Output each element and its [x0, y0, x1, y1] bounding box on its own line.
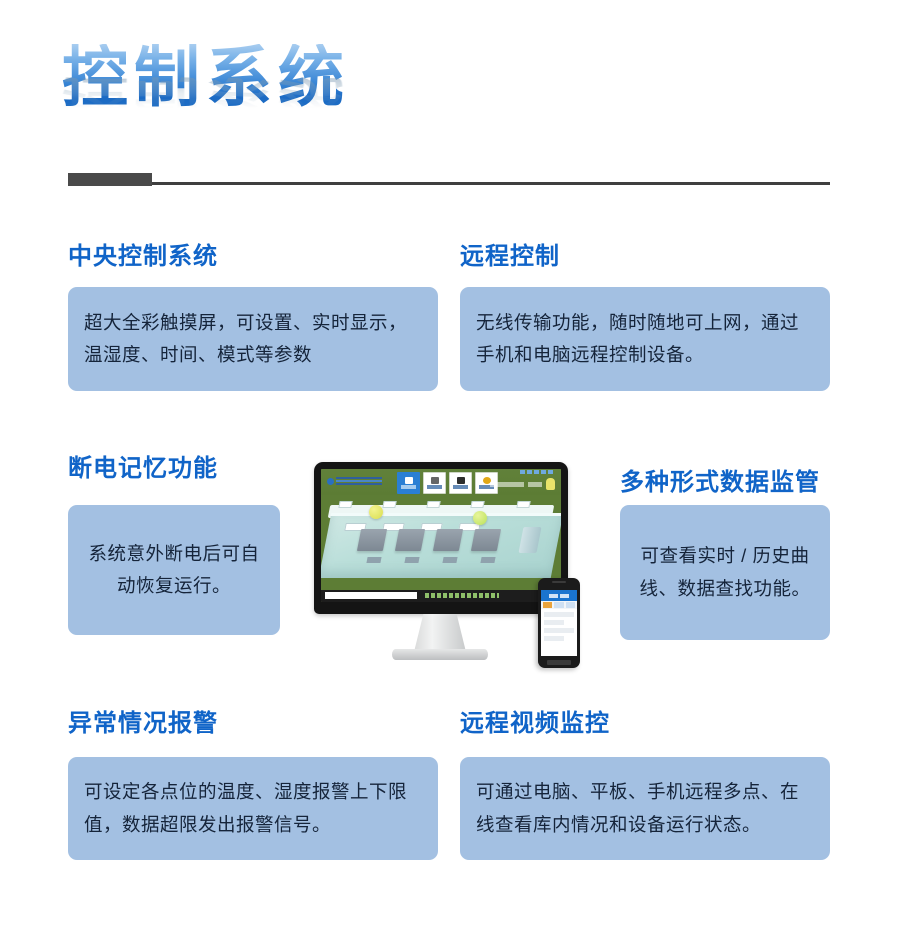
status-dot	[534, 470, 539, 474]
floor-duct	[442, 557, 457, 563]
app-status-bar	[321, 590, 561, 602]
equipment-unit	[433, 529, 463, 551]
page-title-block: 控制系统 控制系统	[62, 44, 482, 164]
desktop-monitor	[314, 462, 568, 614]
overview-icon	[405, 477, 413, 484]
status-dot	[548, 470, 553, 474]
roof-unit	[382, 501, 396, 508]
phone-list-row	[544, 612, 574, 617]
equipment-unit	[395, 529, 425, 551]
lamp-icon	[546, 478, 555, 490]
roof-unit	[338, 501, 352, 508]
status-field	[325, 592, 417, 599]
device-illustration	[310, 450, 590, 675]
datetime-text	[490, 482, 524, 487]
nav-tile-label	[427, 485, 442, 489]
logo-wordmark	[336, 477, 382, 485]
floor-duct	[366, 557, 381, 563]
divider-thin-segment	[152, 182, 830, 185]
status-dot	[527, 470, 532, 474]
nav-tile-overview[interactable]	[397, 472, 420, 494]
info-box-central-control: 超大全彩触摸屏，可设置、实时显示，温湿度、时间、模式等参数	[68, 287, 438, 391]
phone-home-button[interactable]	[547, 660, 571, 665]
sensor-marker-icon	[369, 505, 383, 519]
phone-tab-bar[interactable]	[541, 601, 577, 609]
info-text-abnormal-alarm: 可设定各点位的温度、湿度报警上下限值，数据超限发出报警信号。	[84, 776, 422, 841]
phone-list-row	[544, 620, 564, 625]
app-top-right-info	[490, 478, 555, 490]
page-title: 控制系统	[62, 44, 482, 110]
info-box-remote-control: 无线传输功能，随时随地可上网，通过手机和电脑远程控制设备。	[460, 287, 830, 391]
phone-header-label	[560, 594, 569, 598]
roof-unit	[516, 501, 530, 508]
phone-app-header	[541, 590, 577, 601]
phone-screen	[541, 590, 577, 656]
section-heading-power-failure-memory: 断电记忆功能	[68, 448, 218, 483]
facility-3d-view	[321, 499, 561, 585]
info-text-power-failure-memory: 系统意外断电后可自动恢复运行。	[86, 538, 262, 603]
section-heading-remote-video-monitoring: 远程视频监控	[460, 703, 610, 738]
smartphone	[538, 578, 580, 668]
info-box-abnormal-alarm: 可设定各点位的温度、湿度报警上下限值，数据超限发出报警信号。	[68, 757, 438, 860]
data-icon	[431, 477, 439, 484]
nav-tile-label	[401, 485, 416, 489]
equipment-unit	[471, 529, 501, 551]
section-heading-central-control: 中央控制系统	[68, 236, 218, 271]
roof-unit	[470, 501, 484, 508]
info-box-remote-video-monitoring: 可通过电脑、平板、手机远程多点、在线查看库内情况和设备运行状态。	[460, 757, 830, 860]
phone-header-label	[549, 594, 558, 598]
phone-list-row	[544, 628, 574, 633]
sensor-marker-icon	[473, 511, 487, 525]
monitor-stand-neck	[414, 614, 466, 652]
phone-earpiece	[552, 581, 566, 583]
info-text-multi-form-data-supervision: 可查看实时 / 历史曲线、数据查找功能。	[638, 540, 812, 605]
phone-tab-active[interactable]	[543, 602, 552, 608]
equipment-unit	[357, 529, 387, 551]
roof-unit	[426, 501, 440, 508]
monitor-screen	[321, 469, 561, 602]
phone-tab[interactable]	[566, 602, 575, 608]
app-logo	[327, 477, 382, 485]
info-text-remote-video-monitoring: 可通过电脑、平板、手机远程多点、在线查看库内情况和设备运行状态。	[476, 776, 814, 841]
nav-tile-device[interactable]	[449, 472, 472, 494]
status-dot	[541, 470, 546, 474]
logo-mark-icon	[327, 478, 334, 485]
info-text-remote-control: 无线传输功能，随时随地可上网，通过手机和电脑远程控制设备。	[476, 307, 814, 372]
app-nav-tiles[interactable]	[397, 472, 498, 494]
section-heading-remote-control: 远程控制	[460, 236, 560, 271]
phone-list-row	[544, 636, 564, 641]
divider-thick-segment	[68, 173, 152, 186]
monitor-stand-base	[392, 649, 488, 660]
status-indicator-dots	[520, 470, 553, 474]
user-text	[528, 482, 542, 487]
floor-duct	[404, 557, 419, 563]
section-heading-multi-form-data-supervision: 多种形式数据监管	[620, 462, 820, 497]
device-icon	[457, 477, 465, 484]
info-box-multi-form-data-supervision: 可查看实时 / 历史曲线、数据查找功能。	[620, 505, 830, 640]
nav-tile-label	[453, 485, 468, 489]
header-divider	[68, 173, 830, 187]
nav-tile-data[interactable]	[423, 472, 446, 494]
phone-tab[interactable]	[554, 602, 563, 608]
info-text-central-control: 超大全彩触摸屏，可设置、实时显示，温湿度、时间、模式等参数	[84, 307, 422, 372]
status-dot	[520, 470, 525, 474]
info-box-power-failure-memory: 系统意外断电后可自动恢复运行。	[68, 505, 280, 635]
floor-duct	[480, 557, 495, 563]
status-ticker	[425, 593, 499, 598]
section-heading-abnormal-alarm: 异常情况报警	[68, 703, 218, 738]
